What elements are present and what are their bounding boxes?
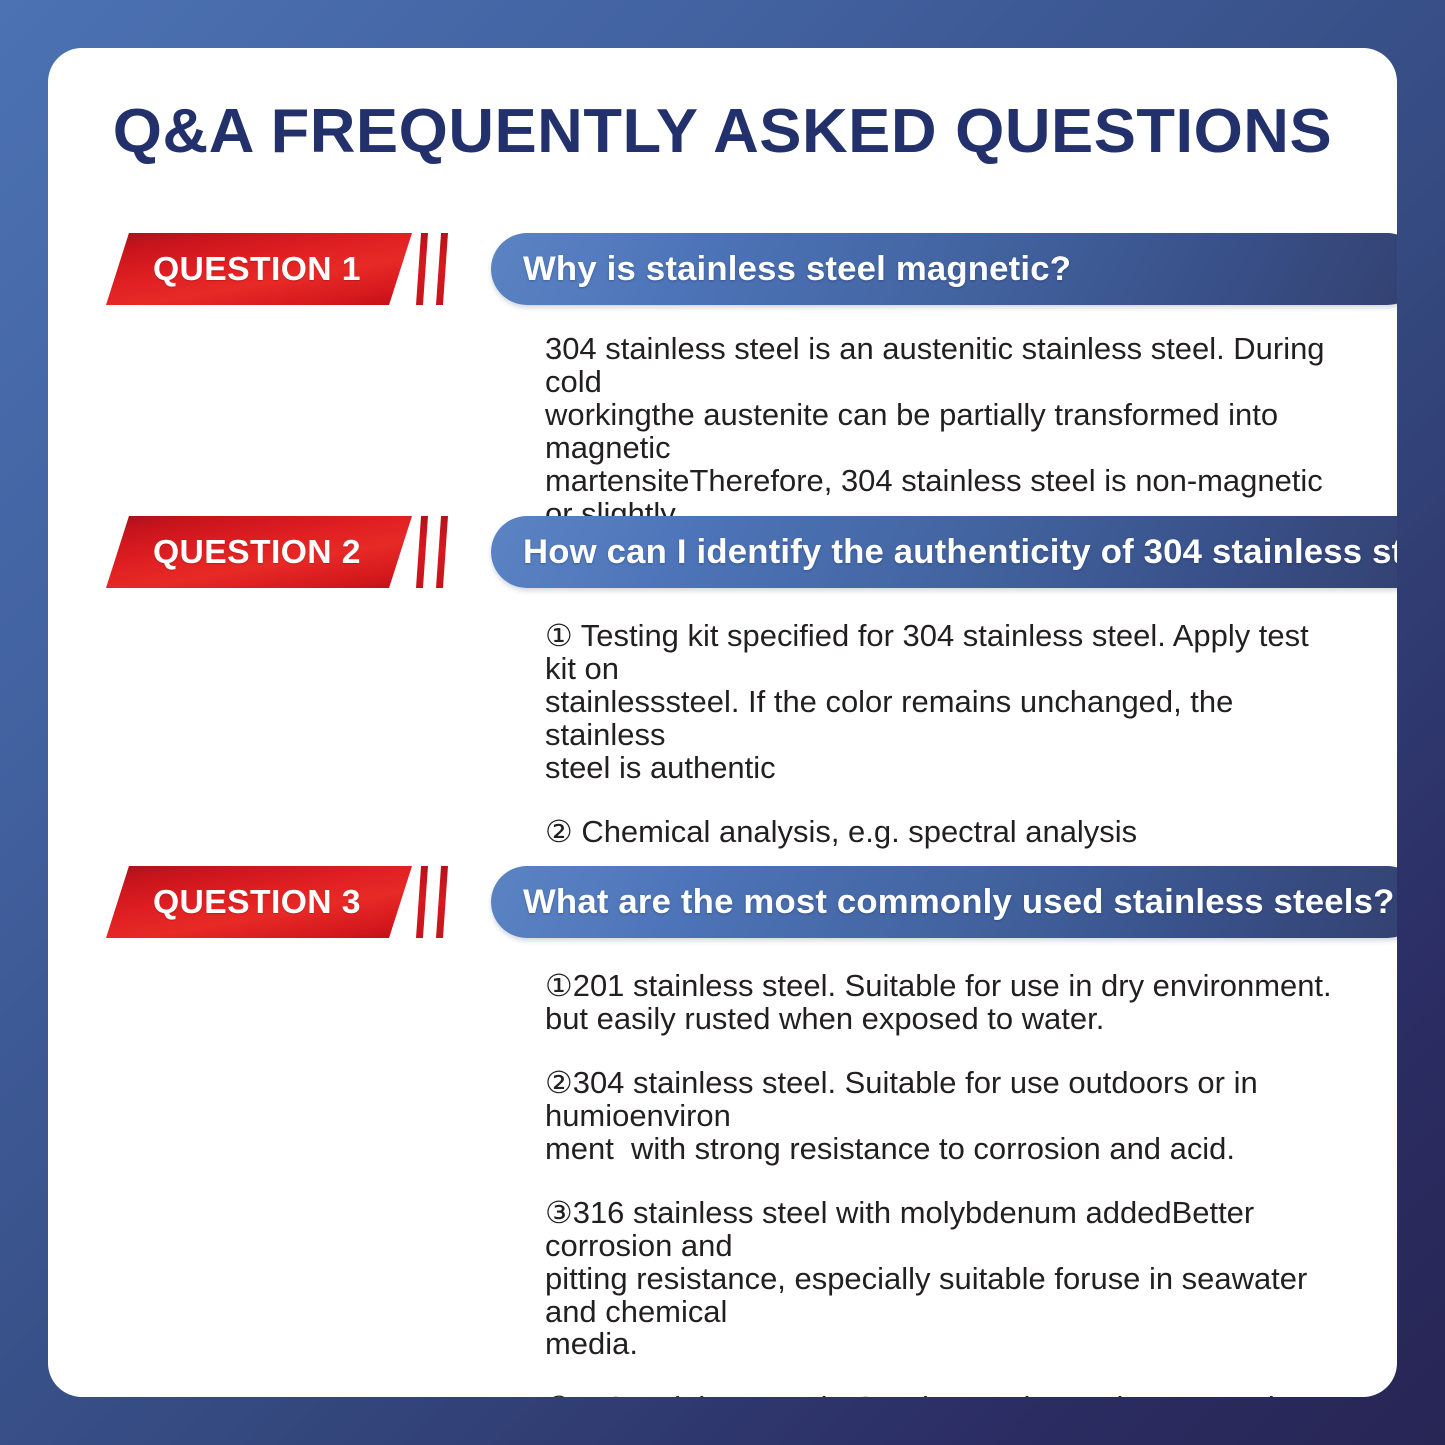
faq-card: Q&A FREQUENTLY ASKED QUESTIONS QUESTION … xyxy=(48,48,1397,1397)
question-badge-1-label: QUESTION 1 xyxy=(153,250,361,288)
answer-paragraph: ② Chemical analysis, e.g. spectral analy… xyxy=(545,816,1337,849)
faq-item-1-header: QUESTION 1 Why is stainless steel magnet… xyxy=(48,233,1397,305)
question-badge-2[interactable]: QUESTION 2 xyxy=(106,516,412,588)
faq-page: Q&A FREQUENTLY ASKED QUESTIONS QUESTION … xyxy=(0,0,1445,1445)
faq-item-1: QUESTION 1 Why is stainless steel magnet… xyxy=(48,233,1397,533)
question-title-pill-2[interactable]: How can I identify the authenticity of 3… xyxy=(491,516,1397,588)
question-badge-1[interactable]: QUESTION 1 xyxy=(106,233,412,305)
answer-paragraph: ②304 stainless steel. Suitable for use o… xyxy=(545,1067,1337,1166)
question-title-1: Why is stainless steel magnetic? xyxy=(523,250,1071,289)
slash-separator-2-icon xyxy=(410,516,456,588)
question-title-pill-3[interactable]: What are the most commonly used stainles… xyxy=(491,866,1397,938)
faq-item-3-header: QUESTION 3 What are the most commonly us… xyxy=(48,866,1397,938)
question-title-2: How can I identify the authenticity of 3… xyxy=(523,533,1397,572)
slash-separator-3-icon xyxy=(410,866,456,938)
question-badge-3[interactable]: QUESTION 3 xyxy=(106,866,412,938)
page-title: Q&A FREQUENTLY ASKED QUESTIONS xyxy=(48,96,1397,167)
question-title-pill-1[interactable]: Why is stainless steel magnetic? xyxy=(491,233,1397,305)
answer-paragraph: ① Testing kit specified for 304 stainles… xyxy=(545,620,1337,785)
faq-item-3-body: ①201 stainless steel. Suitable for use i… xyxy=(545,970,1325,1397)
answer-paragraph: ①201 stainless steel. Suitable for use i… xyxy=(545,970,1337,1036)
faq-item-2-header: QUESTION 2 How can I identify the authen… xyxy=(48,516,1397,588)
faq-item-3: QUESTION 3 What are the most commonly us… xyxy=(48,866,1397,1346)
question-badge-3-label: QUESTION 3 xyxy=(153,883,361,921)
slash-separator-1-icon xyxy=(410,233,456,305)
answer-paragraph: ④410 stainless steel . Good corrosion re… xyxy=(545,1392,1337,1397)
faq-item-2: QUESTION 2 How can I identify the authen… xyxy=(48,516,1397,856)
question-title-3: What are the most commonly used stainles… xyxy=(523,883,1394,922)
question-badge-2-label: QUESTION 2 xyxy=(153,533,361,571)
answer-paragraph: ③316 stainless steel with molybdenum add… xyxy=(545,1197,1337,1362)
